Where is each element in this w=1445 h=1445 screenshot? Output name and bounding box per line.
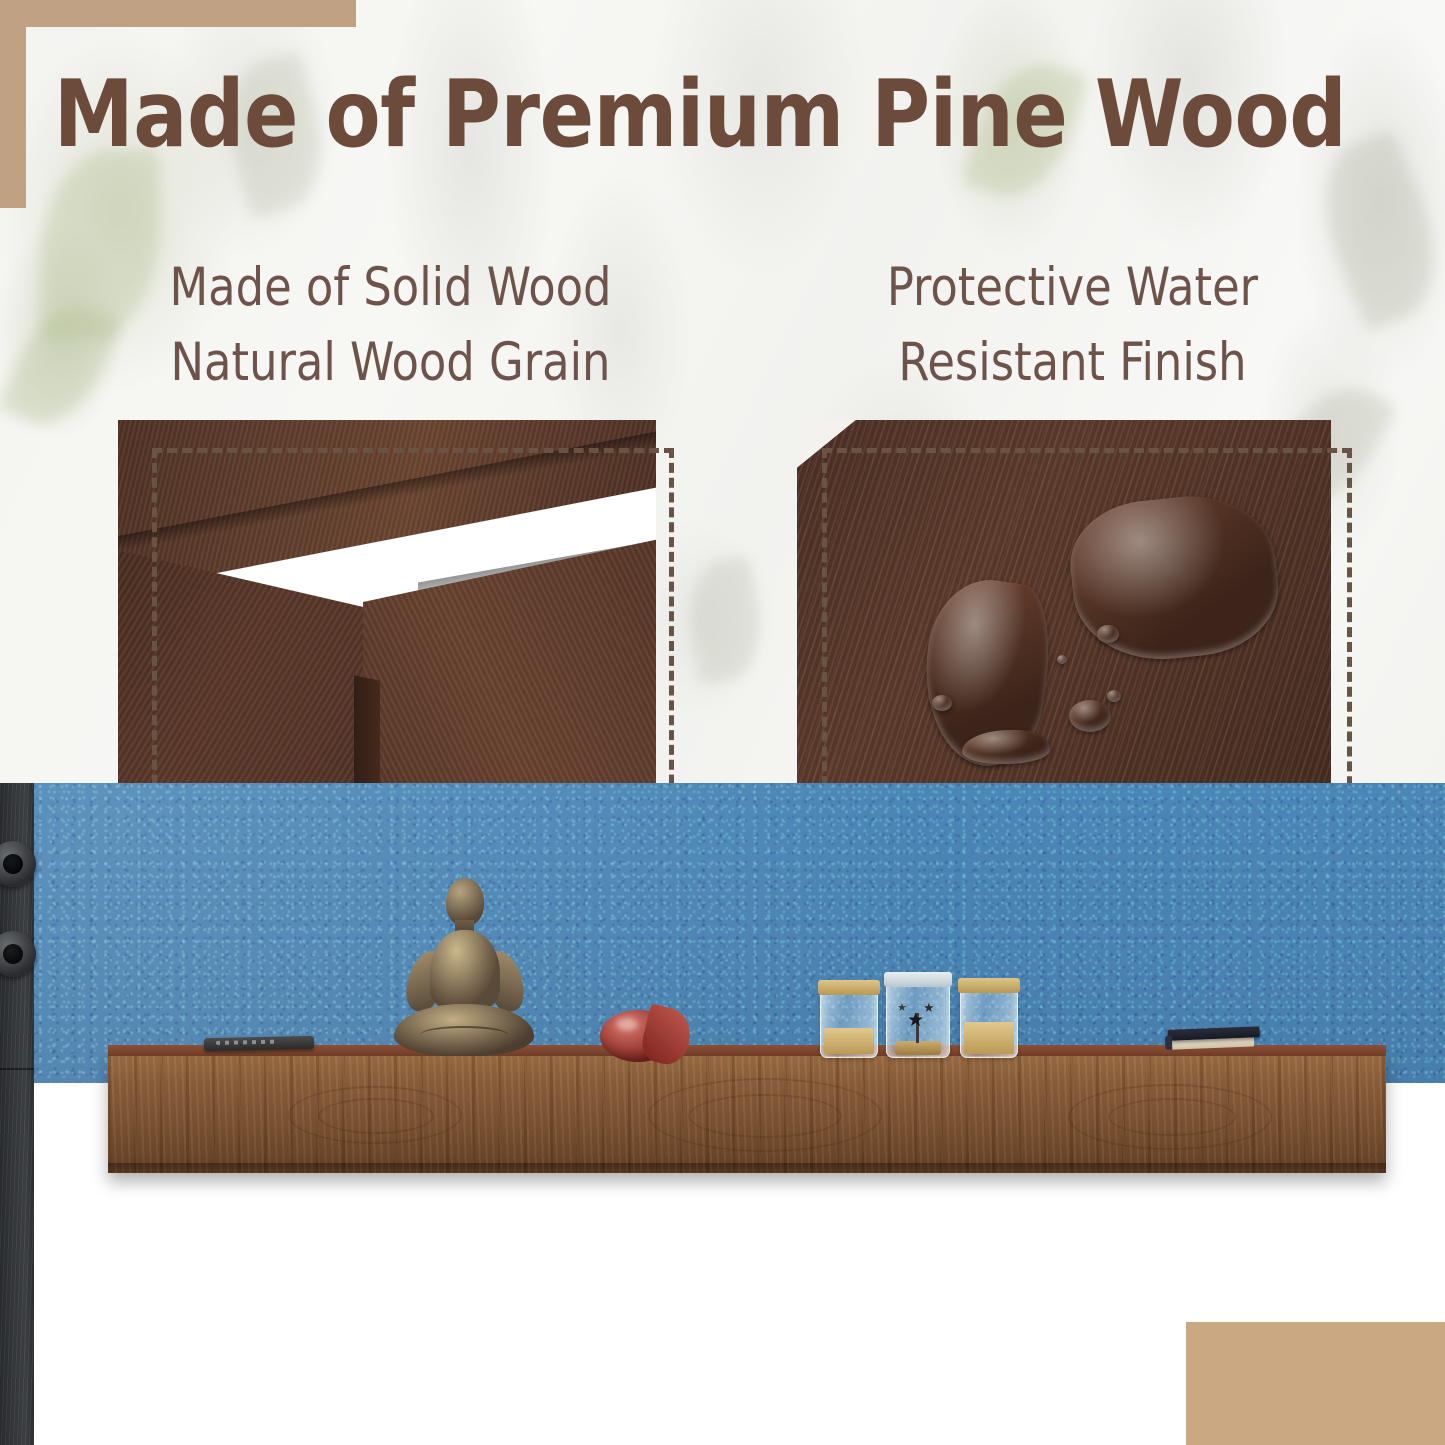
- remote-control: [204, 1036, 314, 1051]
- corner-accent-bottom-right: [1186, 1322, 1445, 1445]
- shell-highlight: [616, 1018, 638, 1031]
- feature-heading-water-resistant: Protective Water Resistant Finish: [816, 250, 1328, 401]
- jar-cork-base: [895, 1041, 941, 1055]
- buddha-statue: [392, 878, 536, 1060]
- star-icon: ★: [897, 1003, 907, 1014]
- jar-metal-lid: [884, 972, 952, 987]
- book-spine: [1165, 1036, 1173, 1050]
- feature-heading-line-2: Resistant Finish: [816, 325, 1328, 400]
- shelf-front-face: [108, 1056, 1386, 1173]
- hardcover-book: [1168, 1026, 1261, 1054]
- feature-heading-line-2: Natural Wood Grain: [134, 325, 646, 400]
- statue-leg-contour: [420, 1026, 508, 1044]
- wood-grain-ring: [318, 1098, 434, 1134]
- glass-jar-1: [820, 988, 878, 1058]
- feature-heading-line-1: Protective Water: [816, 250, 1328, 325]
- marketing-image: Made of Premium Pine Wood Made of Solid …: [0, 0, 1445, 1445]
- jar-contents: [824, 1028, 874, 1054]
- wood-grain-ring: [688, 1094, 842, 1138]
- corner-accent-top-horizontal: [0, 0, 356, 27]
- wood-grain-ring: [1108, 1098, 1236, 1136]
- statue-torso: [430, 930, 500, 1010]
- glass-jar-3: [960, 986, 1018, 1058]
- shelf-underside-shadow: [108, 1163, 1386, 1173]
- jar-cork-lid: [818, 980, 880, 995]
- statue-head: [446, 878, 484, 926]
- red-shell-sculpture: [600, 1008, 692, 1064]
- jar-cork-lid: [958, 978, 1020, 993]
- feature-heading-solid-wood: Made of Solid Wood Natural Wood Grain: [134, 250, 646, 401]
- jar-contents: [964, 1022, 1014, 1054]
- star-icon: ★: [907, 1011, 924, 1030]
- page-title: Made of Premium Pine Wood: [28, 68, 1372, 161]
- door-seam: [0, 1068, 34, 1070]
- glass-jar-2-with-stars: ★ ★ ★: [886, 980, 950, 1058]
- corner-accent-top-vertical: [0, 0, 26, 208]
- floating-wood-shelf: [108, 1045, 1386, 1173]
- leaf-shadow-icon: [680, 555, 770, 685]
- star-icon: ★: [923, 1001, 935, 1014]
- feature-heading-line-1: Made of Solid Wood: [134, 250, 646, 325]
